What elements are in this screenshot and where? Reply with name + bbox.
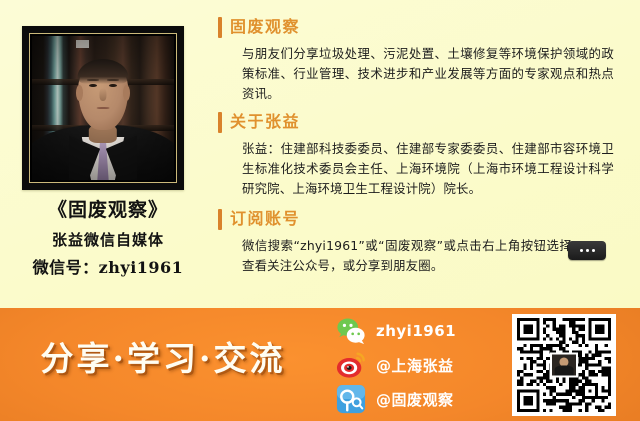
tencent-weibo-icon: [336, 384, 366, 414]
section-header: 固废观察: [218, 16, 638, 38]
portrait-photo: [32, 36, 174, 180]
account-subtitle: 张益微信自媒体: [0, 230, 216, 251]
social-row-weibo[interactable]: @上海张益: [336, 348, 506, 382]
social-label: zhyi1961: [376, 322, 456, 340]
social-label: @固废观察: [376, 389, 454, 410]
portrait-vignette: [32, 36, 174, 180]
weibo-icon: [336, 350, 366, 380]
section-body: 微信搜索“zhyi1961”或“固废观察”或点击右上角按钮选择查看关注公众号，或…: [242, 236, 572, 276]
section-accent-bar: [218, 112, 222, 133]
content-column: 固废观察 与朋友们分享垃圾处理、污泥处置、土壤修复等环境保护领域的政策标准、行业…: [216, 0, 640, 300]
social-row-tencent-weibo[interactable]: @固废观察: [336, 382, 506, 416]
portrait-inner-border: [29, 33, 177, 183]
section-accent-bar: [218, 17, 222, 38]
more-options-button[interactable]: [568, 241, 606, 260]
dot-icon: [580, 249, 583, 252]
wechat-id-line: 微信号：zhyi1961: [0, 257, 216, 279]
profile-caption: 《固废观察》 张益微信自媒体 微信号：zhyi1961: [0, 198, 216, 279]
section-header: 订阅账号: [218, 208, 638, 230]
section-gufei-guancha: 固废观察 与朋友们分享垃圾处理、污泥处置、土壤修复等环境保护领域的政策标准、行业…: [218, 16, 638, 104]
wechat-icon: [336, 316, 366, 346]
section-about-zhangyi: 关于张益 张益：住建部科技委委员、住建部专家委委员、住建部市容环境卫生标准化技术…: [218, 111, 638, 199]
section-subscribe-account: 订阅账号 微信搜索“zhyi1961”或“固废观察”或点击右上角按钮选择查看关注…: [218, 208, 638, 276]
section-header: 关于张益: [218, 111, 638, 133]
profile-column: 《固废观察》 张益微信自媒体 微信号：zhyi1961: [0, 0, 216, 300]
section-body: 与朋友们分享垃圾处理、污泥处置、土壤修复等环境保护领域的政策标准、行业管理、技术…: [242, 44, 614, 104]
section-accent-bar: [218, 209, 222, 230]
section-title: 固废观察: [230, 19, 300, 35]
footer-bar: 分享·学习·交流 zhyi1961: [0, 308, 640, 421]
social-links: zhyi1961 @上海张益: [336, 314, 506, 418]
wechat-qr-code[interactable]: [512, 314, 616, 416]
section-title: 关于张益: [230, 114, 300, 130]
account-title: 《固废观察》: [0, 198, 216, 224]
section-title: 订阅账号: [230, 211, 300, 227]
dot-icon: [592, 249, 595, 252]
qr-center-portrait: [550, 353, 578, 378]
promo-card: 《固废观察》 张益微信自媒体 微信号：zhyi1961 固废观察 与朋友们分享垃…: [0, 0, 640, 421]
dot-icon: [586, 249, 589, 252]
section-body: 张益：住建部科技委委员、住建部专家委委员、住建部市容环境卫生标准化技术委员会主任…: [242, 139, 614, 199]
qr-pattern: [516, 318, 612, 412]
footer-slogan: 分享·学习·交流: [18, 342, 308, 375]
social-row-wechat[interactable]: zhyi1961: [336, 314, 506, 348]
portrait-frame: [22, 26, 184, 190]
social-label: @上海张益: [376, 355, 454, 376]
